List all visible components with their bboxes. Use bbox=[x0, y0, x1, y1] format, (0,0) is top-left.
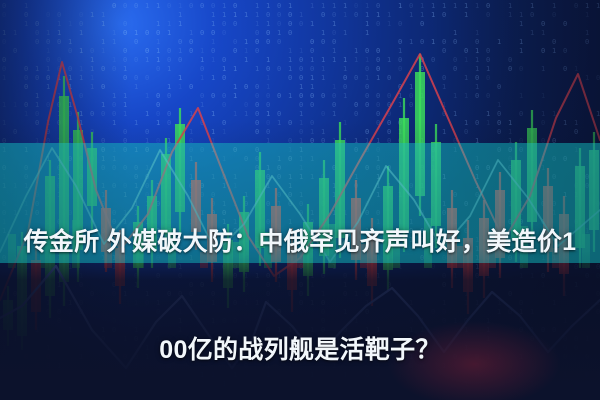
news-thumbnail-image: 0010001110101100110000101101010111001101… bbox=[0, 0, 600, 400]
headline-text: 传金所 外媒破大防：中俄罕见齐声叫好，美造价1 00亿的战列舰是活靶子？ bbox=[0, 152, 600, 400]
headline-line-1: 传金所 外媒破大防：中俄罕见齐声叫好，美造价1 bbox=[10, 224, 590, 260]
headline-line-2: 00亿的战列舰是活靶子？ bbox=[10, 332, 590, 368]
